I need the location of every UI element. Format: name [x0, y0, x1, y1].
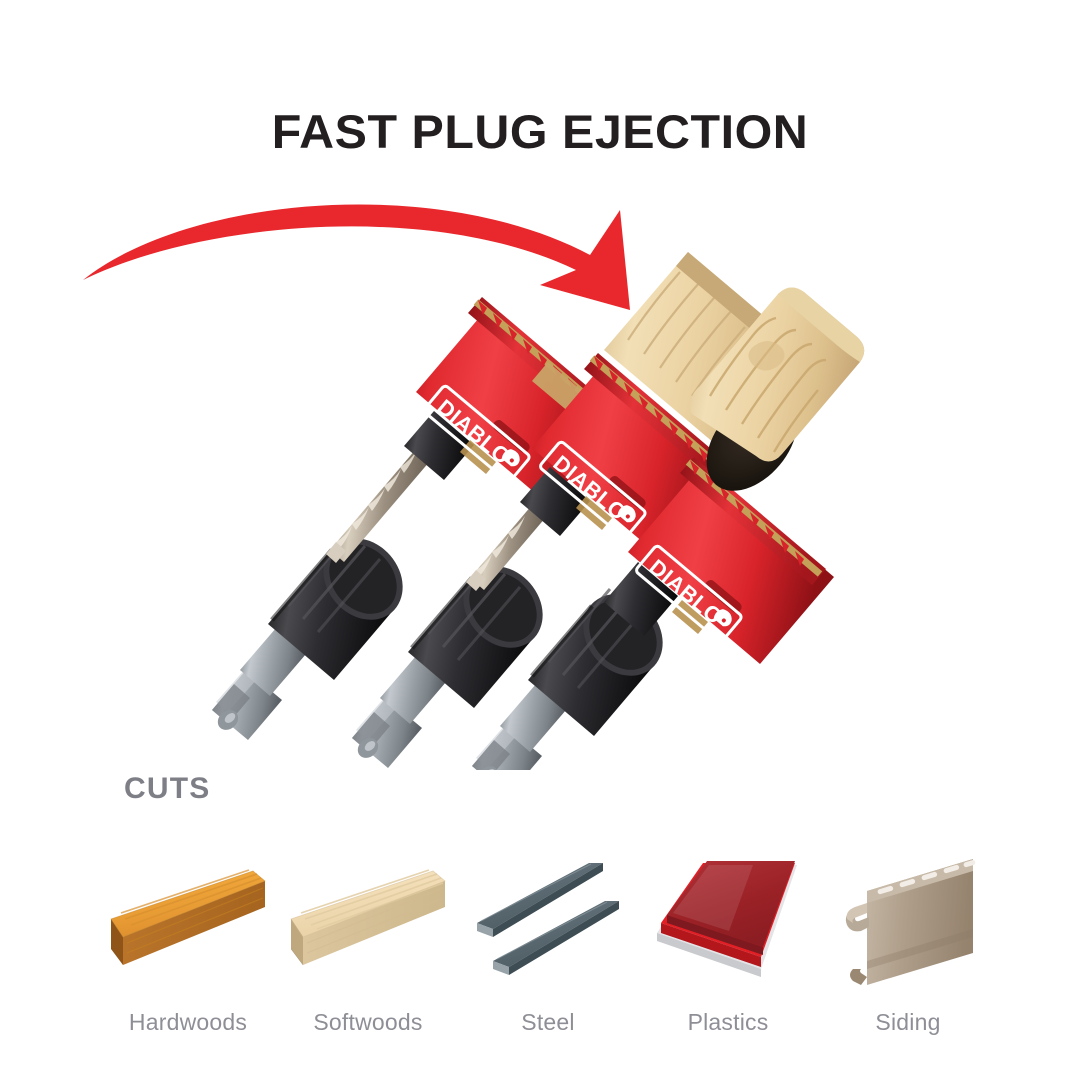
ejection-direction-arrow: [83, 204, 630, 310]
softwood-board-icon: [283, 854, 453, 989]
cut-label-siding: Siding: [875, 1009, 940, 1036]
cut-label-hardwoods: Hardwoods: [129, 1009, 247, 1036]
cut-item-steel[interactable]: Steel: [458, 826, 638, 1036]
cuts-material-row: Hardwoods: [98, 826, 998, 1036]
hero-illustration: DIABLO: [0, 150, 1080, 770]
infographic-page: FAST PLUG EJECTION: [0, 0, 1080, 1080]
cut-item-siding[interactable]: Siding: [818, 826, 998, 1036]
steel-sheet-icon: [463, 854, 633, 989]
cut-item-plastics[interactable]: Plastics: [638, 826, 818, 1036]
hardwood-board-icon: [103, 854, 273, 989]
cut-label-steel: Steel: [521, 1009, 574, 1036]
cut-item-hardwoods[interactable]: Hardwoods: [98, 826, 278, 1036]
cut-label-softwoods: Softwoods: [313, 1009, 422, 1036]
cut-label-plastics: Plastics: [688, 1009, 769, 1036]
vinyl-siding-icon: [823, 854, 993, 989]
plastic-sheets-icon: [643, 854, 813, 989]
cut-item-softwoods[interactable]: Softwoods: [278, 826, 458, 1036]
cuts-heading: CUTS: [124, 772, 210, 806]
